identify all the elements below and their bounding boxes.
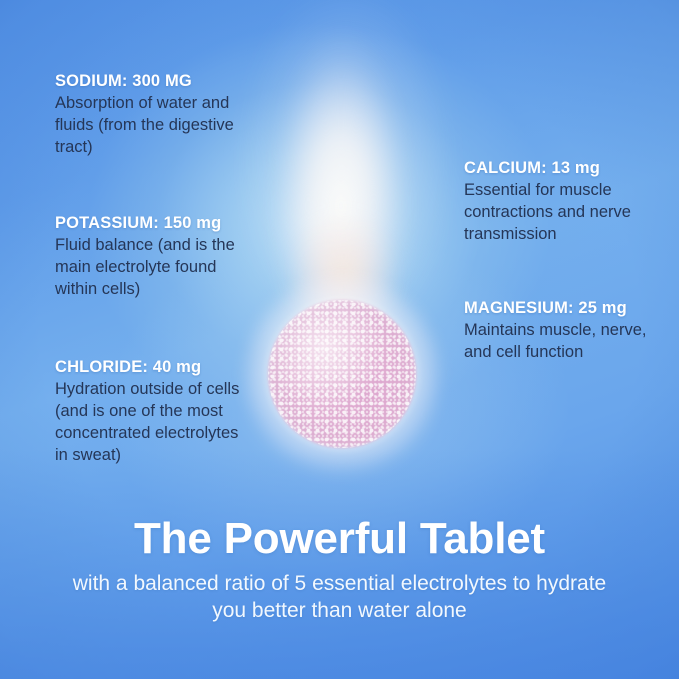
callout-calcium: CALCIUM: 13 mg Essential for muscle cont… — [464, 159, 659, 246]
callout-magnesium: MAGNESIUM: 25 mg Maintains muscle, nerve… — [464, 299, 659, 364]
footer-subtitle: with a balanced ratio of 5 essential ele… — [60, 570, 620, 625]
callout-potassium: POTASSIUM: 150 mg Fluid balance (and is … — [55, 214, 255, 301]
callout-sodium-title: SODIUM: 300 MG — [55, 72, 255, 91]
callout-potassium-description: Fluid balance (and is the main electroly… — [55, 235, 255, 301]
callout-potassium-title: POTASSIUM: 150 mg — [55, 214, 255, 233]
callout-chloride-description: Hydration outside of cells (and is one o… — [55, 379, 255, 467]
callout-sodium: SODIUM: 300 MG Absorption of water and f… — [55, 72, 255, 159]
callout-calcium-title: CALCIUM: 13 mg — [464, 159, 659, 178]
footer-title: The Powerful Tablet — [0, 516, 679, 562]
callout-calcium-description: Essential for muscle contractions and ne… — [464, 180, 659, 246]
footer-headline-block: The Powerful Tablet with a balanced rati… — [0, 516, 679, 625]
callout-sodium-description: Absorption of water and fluids (from the… — [55, 93, 255, 159]
callout-chloride-title: CHLORIDE: 40 mg — [55, 358, 255, 377]
callout-magnesium-description: Maintains muscle, nerve, and cell functi… — [464, 320, 659, 364]
infographic-canvas: SODIUM: 300 MG Absorption of water and f… — [0, 0, 679, 679]
callout-magnesium-title: MAGNESIUM: 25 mg — [464, 299, 659, 318]
callout-chloride: CHLORIDE: 40 mg Hydration outside of cel… — [55, 358, 255, 467]
